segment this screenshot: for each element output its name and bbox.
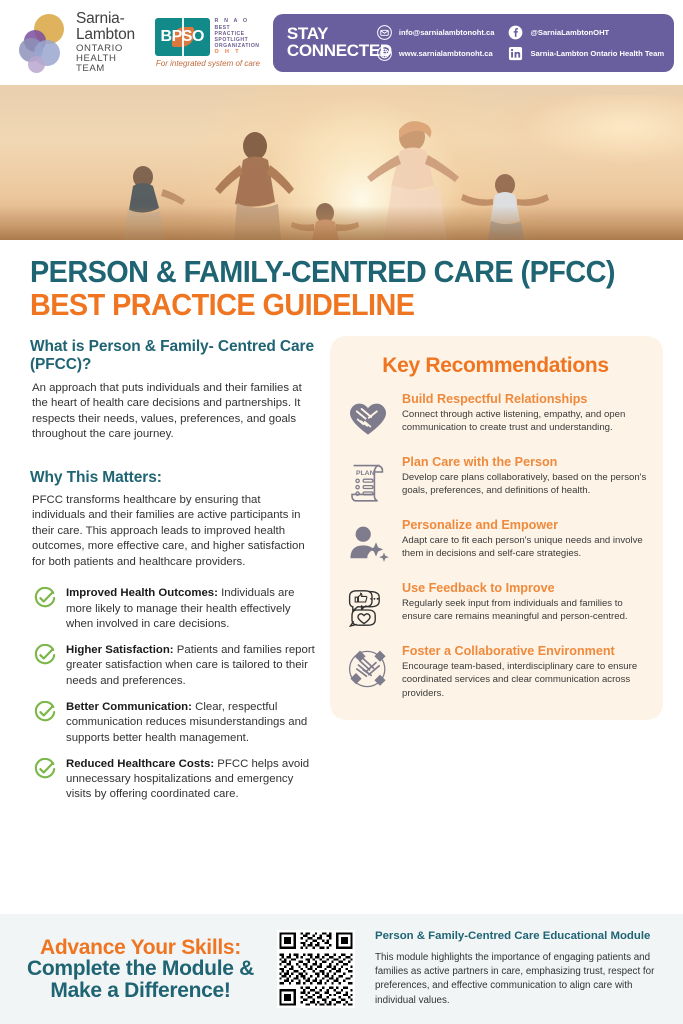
recommendation-body: Regularly seek input from individuals an… (402, 597, 647, 623)
person-sparkle-icon (344, 520, 392, 566)
why-this-matters-body: PFCC transforms healthcare by ensuring t… (30, 493, 316, 571)
handshake-heart-icon (344, 394, 392, 440)
list-item: Reduced Healthcare Costs: PFCC helps avo… (30, 757, 316, 803)
bpso-logo: BPSO R N A O BEST PRACTICE SPOTLIGHT ORG… (155, 18, 261, 68)
collaboration-hands-icon (344, 646, 392, 692)
stay-line-2: CONNECTED (287, 43, 367, 59)
recommendation-title: Build Respectful Relationships (402, 392, 647, 406)
contact-website[interactable]: www.sarnialambtonoht.ca (377, 46, 495, 61)
page-header: Sarnia-Lambton ONTARIO HEALTH TEAM BPSO … (0, 0, 683, 85)
module-info: Person & Family-Centred Care Educational… (369, 930, 661, 1008)
recommendation-title: Personalize and Empower (402, 518, 647, 532)
module-title: Person & Family-Centred Care Educational… (375, 930, 661, 944)
page-footer: Advance Your Skills: Complete the Module… (0, 914, 683, 1024)
list-item: Higher Satisfaction: Patients and famili… (30, 643, 316, 689)
feedback-bubbles-icon (344, 583, 392, 629)
logo-org-name: Sarnia-Lambton (76, 11, 135, 44)
cta-line-1: Advance Your Skills: (18, 937, 263, 958)
stay-connected-bar: STAY CONNECTED info@sarnialambtonoht.ca (273, 14, 674, 72)
check-circle-icon (34, 587, 56, 609)
recommendation-title: Foster a Collaborative Environment (402, 644, 647, 658)
what-is-pfcc-body: An approach that puts individuals and th… (30, 381, 316, 443)
email-icon (377, 25, 392, 40)
key-recommendations-title: Key Recommendations (344, 354, 647, 378)
bpso-line3: ORGANIZATION (215, 43, 261, 49)
list-item: PLAN Plan Care with the Person Develop c… (344, 455, 647, 503)
recommendation-title: Use Feedback to Improve (402, 581, 647, 595)
globe-icon (377, 46, 392, 61)
title-line-1: PERSON & FAMILY-CENTRED CARE (PFCC) (30, 256, 619, 287)
recommendation-title: Plan Care with the Person (402, 455, 647, 469)
bpso-oht: O H T (215, 49, 261, 55)
sarnia-lambton-logo: Sarnia-Lambton ONTARIO HEALTH TEAM (18, 11, 135, 74)
benefit-title: Better Communication: (66, 701, 192, 713)
what-is-pfcc-heading: What is Person & Family- Centred Care (P… (30, 338, 316, 375)
hero-family-photo (0, 85, 683, 240)
recommendation-body: Adapt care to fit each person's unique n… (402, 534, 647, 560)
check-circle-icon (34, 644, 56, 666)
why-this-matters-heading: Why This Matters: (30, 469, 316, 487)
social-facebook[interactable]: @SarniaLambtonOHT (508, 25, 664, 40)
recommendation-body: Encourage team-based, interdisciplinary … (402, 660, 647, 700)
contact-email[interactable]: info@sarnialambtonoht.ca (377, 25, 495, 40)
benefits-list: Improved Health Outcomes: Individuals ar… (30, 586, 316, 802)
list-item: Build Respectful Relationships Connect t… (344, 392, 647, 440)
check-circle-icon (34, 758, 56, 780)
module-body: This module highlights the importance of… (375, 951, 661, 1008)
list-item: Better Communication: Clear, respectful … (30, 700, 316, 746)
cta-block: Advance Your Skills: Complete the Module… (18, 937, 263, 1001)
bpso-line1: BEST PRACTICE (215, 25, 261, 37)
social-facebook-text: @SarniaLambtonOHT (530, 28, 609, 37)
contact-email-text: info@sarnialambtonoht.ca (399, 28, 495, 37)
check-circle-icon (34, 701, 56, 723)
bpso-tagline: For integrated system of care (156, 59, 260, 68)
oht-circles-icon (18, 12, 70, 74)
recommendation-body: Develop care plans collaboratively, base… (402, 471, 647, 497)
benefit-title: Reduced Healthcare Costs: (66, 758, 214, 770)
key-recommendations-panel: Key Recommendations Build Respectful Rel… (330, 336, 663, 720)
social-linkedin[interactable]: Sarnia-Lambton Ontario Health Team (508, 46, 664, 61)
bpso-book-icon: BPSO (155, 18, 210, 56)
title-line-2: BEST PRACTICE GUIDELINE (30, 289, 619, 320)
list-item: Personalize and Empower Adapt care to fi… (344, 518, 647, 566)
right-column: Key Recommendations Build Respectful Rel… (330, 338, 663, 803)
list-item: Improved Health Outcomes: Individuals ar… (30, 586, 316, 632)
hero-grass (0, 206, 683, 240)
stay-connected-title: STAY CONNECTED (287, 26, 367, 59)
benefit-title: Improved Health Outcomes: (66, 587, 218, 599)
benefit-title: Higher Satisfaction: (66, 644, 174, 656)
plan-document-icon: PLAN (344, 457, 392, 503)
facebook-icon (508, 25, 523, 40)
page-title: PERSON & FAMILY-CENTRED CARE (PFCC) BEST… (0, 240, 683, 324)
plan-icon-label: PLAN (356, 470, 375, 477)
left-column: What is Person & Family- Centred Care (P… (0, 338, 330, 803)
bpso-mark-text: BPSO (161, 28, 204, 46)
cta-line-2: Complete the Module & (18, 958, 263, 979)
linkedin-icon (508, 46, 523, 61)
social-linkedin-text: Sarnia-Lambton Ontario Health Team (530, 49, 664, 58)
cta-line-3: Make a Difference! (18, 980, 263, 1001)
recommendation-body: Connect through active listening, empath… (402, 408, 647, 434)
content-columns: What is Person & Family- Centred Care (P… (0, 324, 683, 803)
logo-org-subtitle: ONTARIO HEALTH TEAM (76, 44, 135, 74)
list-item: Use Feedback to Improve Regularly seek i… (344, 581, 647, 629)
contact-website-text: www.sarnialambtonoht.ca (399, 49, 493, 58)
qr-code-icon[interactable] (277, 930, 355, 1008)
list-item: Foster a Collaborative Environment Encou… (344, 644, 647, 700)
